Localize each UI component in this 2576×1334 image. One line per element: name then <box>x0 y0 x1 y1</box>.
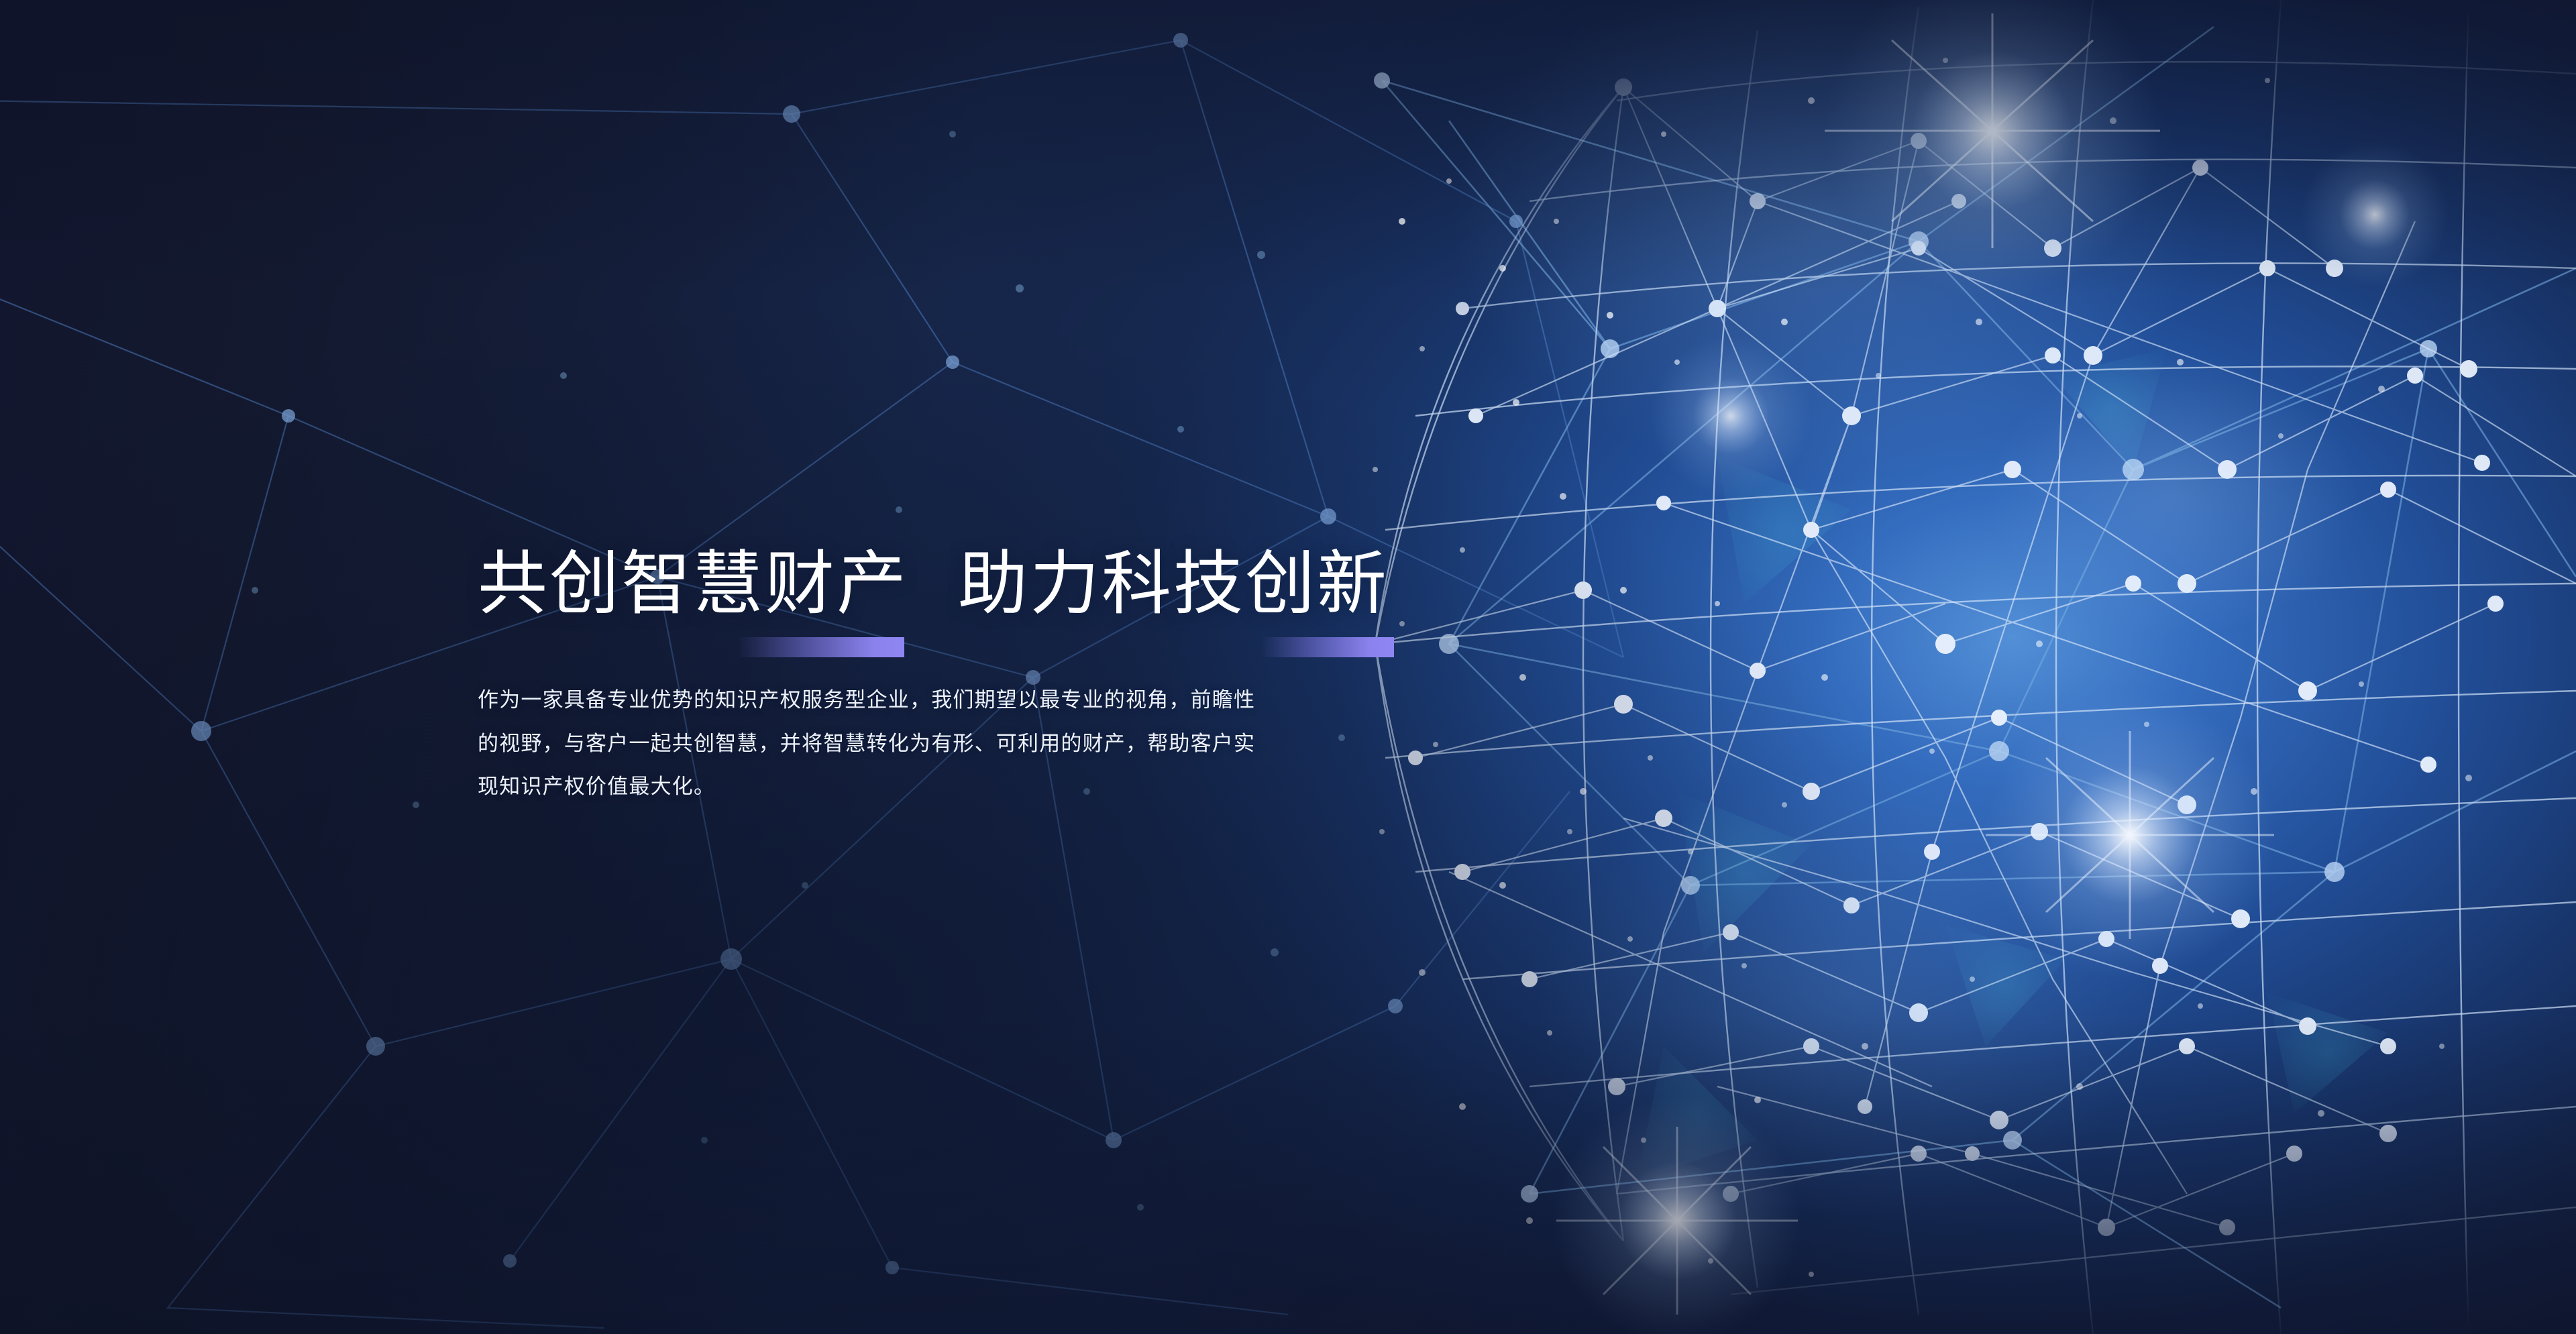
headline-part-1: 共创智慧财产 <box>478 549 908 620</box>
hero-description: 作为一家具备专业优势的知识产权服务型企业，我们期望以最专业的视角，前瞻性的视野，… <box>478 679 1269 808</box>
headline-part-2: 助力科技创新 <box>958 549 1389 620</box>
accent-bar-group <box>478 629 1457 664</box>
banner-hero: 共创智慧财产 助力科技创新 作为一家具备专业优势的知识产权服务型企业，我们期望以… <box>0 0 2576 1334</box>
hero-text-block: 共创智慧财产 助力科技创新 作为一家具备专业优势的知识产权服务型企业，我们期望以… <box>478 549 1457 829</box>
page-title: 共创智慧财产 助力科技创新 <box>478 549 1457 620</box>
accent-bar-2 <box>1261 637 1394 657</box>
accent-bar-1 <box>738 637 904 657</box>
